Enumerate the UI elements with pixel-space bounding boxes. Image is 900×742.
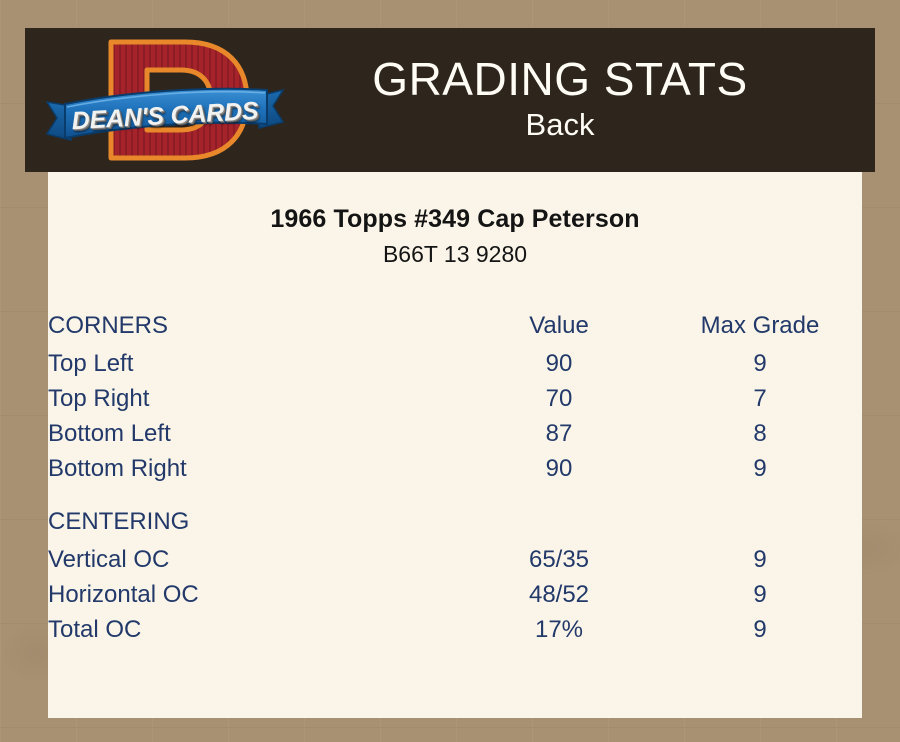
section-heading-row: CORNERSValueMax Grade bbox=[48, 312, 862, 350]
card-code: B66T 13 9280 bbox=[48, 241, 862, 268]
row-max-grade: 9 bbox=[658, 616, 862, 651]
row-label: Vertical OC bbox=[48, 546, 460, 581]
column-header-value bbox=[460, 508, 658, 546]
row-value: 90 bbox=[460, 455, 658, 490]
header-titles: GRADING STATS Back bbox=[295, 56, 875, 145]
table-row: Bottom Left878 bbox=[48, 420, 862, 455]
logo-ribbon-banner-icon: DEAN'S CARDS bbox=[45, 84, 285, 148]
section-heading: CENTERING bbox=[48, 508, 460, 546]
table-row: Horizontal OC48/529 bbox=[48, 581, 862, 616]
row-max-grade: 7 bbox=[658, 385, 862, 420]
row-label: Bottom Left bbox=[48, 420, 460, 455]
row-max-grade: 9 bbox=[658, 581, 862, 616]
row-max-grade: 9 bbox=[658, 455, 862, 490]
table-row: Top Right707 bbox=[48, 385, 862, 420]
section-heading-row: CENTERING bbox=[48, 508, 862, 546]
card-info: 1966 Topps #349 Cap Peterson B66T 13 928… bbox=[48, 205, 862, 268]
row-value: 65/35 bbox=[460, 546, 658, 581]
spacer-cell bbox=[48, 490, 460, 508]
deans-cards-logo[interactable]: DEAN'S CARDS bbox=[25, 28, 295, 172]
table-row: Top Left909 bbox=[48, 350, 862, 385]
spacer-cell bbox=[658, 490, 862, 508]
row-label: Bottom Right bbox=[48, 455, 460, 490]
row-max-grade: 8 bbox=[658, 420, 862, 455]
row-max-grade: 9 bbox=[658, 546, 862, 581]
row-value: 70 bbox=[460, 385, 658, 420]
table-row: Total OC17%9 bbox=[48, 616, 862, 651]
table-row: Vertical OC65/359 bbox=[48, 546, 862, 581]
grading-stats-table: CORNERSValueMax GradeTop Left909Top Righ… bbox=[48, 312, 862, 651]
row-label: Top Right bbox=[48, 385, 460, 420]
section-spacer bbox=[48, 490, 862, 508]
table-row: Bottom Right909 bbox=[48, 455, 862, 490]
card-title: 1966 Topps #349 Cap Peterson bbox=[48, 205, 862, 234]
column-header-max-grade: Max Grade bbox=[658, 312, 862, 350]
page-title: GRADING STATS bbox=[295, 56, 825, 104]
row-value: 90 bbox=[460, 350, 658, 385]
row-label: Horizontal OC bbox=[48, 581, 460, 616]
row-value: 48/52 bbox=[460, 581, 658, 616]
row-value: 17% bbox=[460, 616, 658, 651]
row-label: Top Left bbox=[48, 350, 460, 385]
row-value: 87 bbox=[460, 420, 658, 455]
row-max-grade: 9 bbox=[658, 350, 862, 385]
column-header-value: Value bbox=[460, 312, 658, 350]
grading-stats-page: DEAN'S CARDS GRADING STATS Back 1966 Top… bbox=[0, 0, 900, 742]
section-heading: CORNERS bbox=[48, 312, 460, 350]
column-header-max-grade bbox=[658, 508, 862, 546]
page-subtitle: Back bbox=[295, 106, 825, 145]
spacer-cell bbox=[460, 490, 658, 508]
row-label: Total OC bbox=[48, 616, 460, 651]
header-bar: DEAN'S CARDS GRADING STATS Back bbox=[25, 28, 875, 172]
